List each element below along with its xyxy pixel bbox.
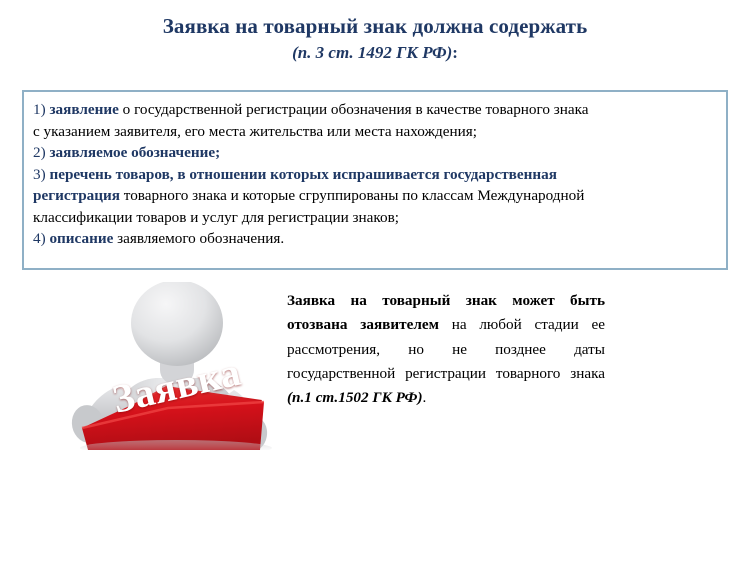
requirement-line: классификации товаров и услуг для регист… xyxy=(33,207,717,229)
page-subtitle-text: (п. 3 ст. 1492 ГК РФ) xyxy=(292,43,452,62)
figure-head xyxy=(131,282,223,366)
3d-person-icon xyxy=(48,282,293,450)
requirement-line: с указанием заявителя, его места жительс… xyxy=(33,121,717,143)
notice-end: . xyxy=(423,389,427,406)
page-subtitle-colon: : xyxy=(452,43,458,62)
requirement-number: 3) xyxy=(33,166,46,183)
page-subtitle: (п. 3 ст. 1492 ГК РФ): xyxy=(0,43,750,63)
requirement-number: 1) xyxy=(33,101,46,118)
requirement-keyword: перечень товаров, в отношении которых ис… xyxy=(46,166,557,183)
requirement-line: 1) заявление о государственной регистрац… xyxy=(33,99,717,121)
requirement-text: классификации товаров и услуг для регист… xyxy=(33,209,399,226)
requirement-text: заявляемого обозначения. xyxy=(113,230,284,247)
requirement-number: 4) xyxy=(33,230,46,247)
application-illustration: Заявка xyxy=(48,282,293,450)
requirement-line: 2) заявляемое обозначение; xyxy=(33,142,717,164)
requirement-keyword: заявляемое обозначение; xyxy=(46,144,221,161)
requirement-text: товарного знака и которые сгруппированы … xyxy=(120,187,584,204)
requirement-keyword: заявление xyxy=(46,101,119,118)
notice-law-reference: (п.1 ст.1502 ГК РФ) xyxy=(287,389,423,406)
requirement-text: о государственной регистрации обозначени… xyxy=(119,101,589,118)
requirement-line: 4) описание заявляемого обозначения. xyxy=(33,228,717,250)
requirement-keyword: описание xyxy=(46,230,114,247)
notice-paragraph: Заявка на товарный знак может быть отозв… xyxy=(287,289,605,410)
requirement-keyword: регистрация xyxy=(33,187,120,204)
requirement-line: регистрация товарного знака и которые сг… xyxy=(33,185,717,207)
requirement-line: 3) перечень товаров, в отношении которых… xyxy=(33,164,717,186)
page-title: Заявка на товарный знак должна содержать xyxy=(0,14,750,38)
requirement-text: с указанием заявителя, его места жительс… xyxy=(33,123,477,140)
requirement-number: 2) xyxy=(33,144,46,161)
requirements-box: 1) заявление о государственной регистрац… xyxy=(22,90,728,270)
title-block: Заявка на товарный знак должна содержать… xyxy=(0,14,750,63)
